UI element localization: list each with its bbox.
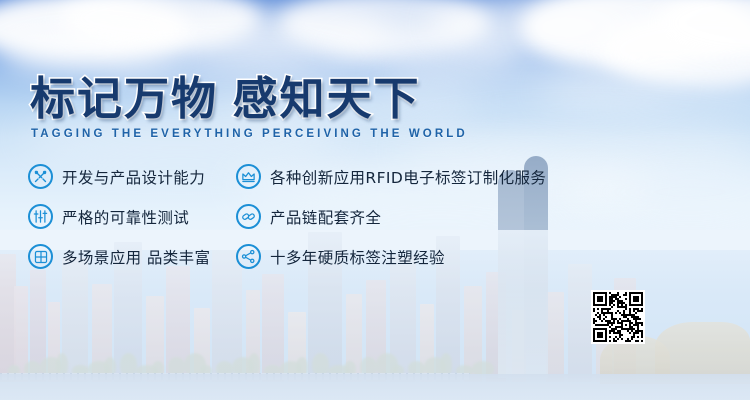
tools-icon: [28, 164, 53, 189]
feature-label: 各种创新应用RFID电子标签订制化服务: [270, 166, 546, 188]
promo-banner: 标记万物 感知天下 TAGGING THE EVERYTHING PERCEIV…: [0, 0, 750, 400]
feature-row: 多场景应用 品类丰富 十多年硬质标签注塑经验: [0, 244, 750, 284]
feature-row: 严格的可靠性测试 产品链配套齐全: [0, 204, 750, 244]
subheadline-text: TAGGING THE EVERYTHING PERCEIVING THE WO…: [31, 128, 468, 140]
feature-item-molding-experience: 十多年硬质标签注塑经验: [236, 244, 445, 269]
feature-item-dev-design: 开发与产品设计能力: [28, 164, 205, 189]
feature-label: 开发与产品设计能力: [62, 166, 205, 188]
share-icon: [236, 244, 261, 269]
feature-list: 开发与产品设计能力 各种创新应用RFID电子标签订制化服务: [0, 164, 750, 284]
grid-icon: [28, 244, 53, 269]
sliders-icon: [28, 204, 53, 229]
feature-item-multi-scenario: 多场景应用 品类丰富: [28, 244, 210, 269]
qr-code-image: [593, 292, 643, 342]
cloud: [0, 34, 180, 78]
waterfront-promenade: [0, 374, 750, 400]
link-icon: [236, 204, 261, 229]
feature-label: 多场景应用 品类丰富: [62, 246, 210, 268]
building: [546, 292, 564, 382]
feature-item-product-chain: 产品链配套齐全: [236, 204, 381, 229]
feature-item-rfid-custom: 各种创新应用RFID电子标签订制化服务: [236, 164, 546, 189]
feature-row: 开发与产品设计能力 各种创新应用RFID电子标签订制化服务: [0, 164, 750, 204]
feature-label: 产品链配套齐全: [270, 206, 381, 228]
headline-text: 标记万物 感知天下: [30, 76, 421, 121]
qr-code[interactable]: [591, 290, 645, 344]
feature-item-reliability-test: 严格的可靠性测试: [28, 204, 189, 229]
feature-label: 十多年硬质标签注塑经验: [270, 246, 445, 268]
crown-icon: [236, 164, 261, 189]
feature-label: 严格的可靠性测试: [62, 206, 189, 228]
